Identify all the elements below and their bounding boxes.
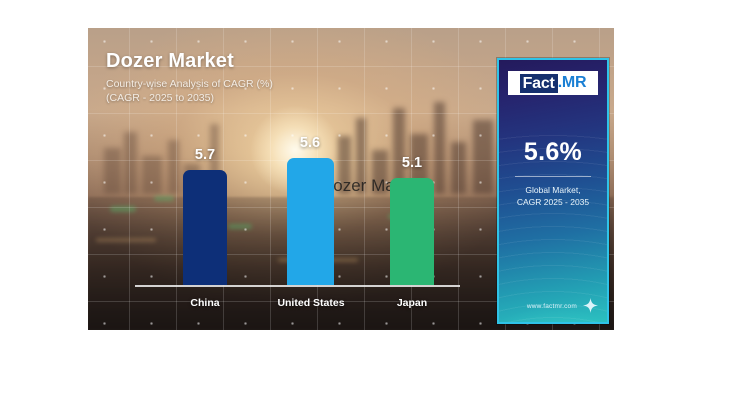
card-website-url: www.factmr.com	[527, 303, 577, 310]
logo-mr-text: .MR	[558, 74, 587, 92]
bar-china	[183, 170, 227, 285]
card-caption: Global Market, CAGR 2025 - 2035	[499, 184, 607, 208]
infographic-root: Dozer Market Country-wise Analysis of CA…	[0, 0, 735, 400]
card-divider	[515, 176, 591, 177]
bar-value-japan: 5.1	[380, 155, 444, 171]
bar-value-china: 5.7	[173, 147, 237, 163]
sparkle-icon	[583, 298, 598, 313]
axis-label-china: China	[165, 297, 245, 309]
card-headline-value: 5.6%	[499, 138, 607, 167]
axis-label-japan: Japan	[372, 297, 452, 309]
bar-japan	[390, 178, 434, 285]
chart-panel: Dozer Market Country-wise Analysis of CA…	[88, 28, 614, 330]
card-caption-line2: CAGR 2025 - 2035	[499, 196, 607, 208]
bar-united-states	[287, 158, 334, 285]
axis-baseline	[135, 285, 460, 287]
factmr-logo: Fact.MR	[508, 71, 598, 95]
card-caption-line1: Global Market,	[499, 184, 607, 196]
factmr-summary-card: Fact.MR 5.6% Global Market, CAGR 2025 - …	[497, 58, 609, 324]
axis-label-united-states: United States	[266, 297, 356, 309]
logo-fact-text: Fact	[520, 74, 558, 93]
bar-value-united-states: 5.6	[278, 135, 342, 151]
